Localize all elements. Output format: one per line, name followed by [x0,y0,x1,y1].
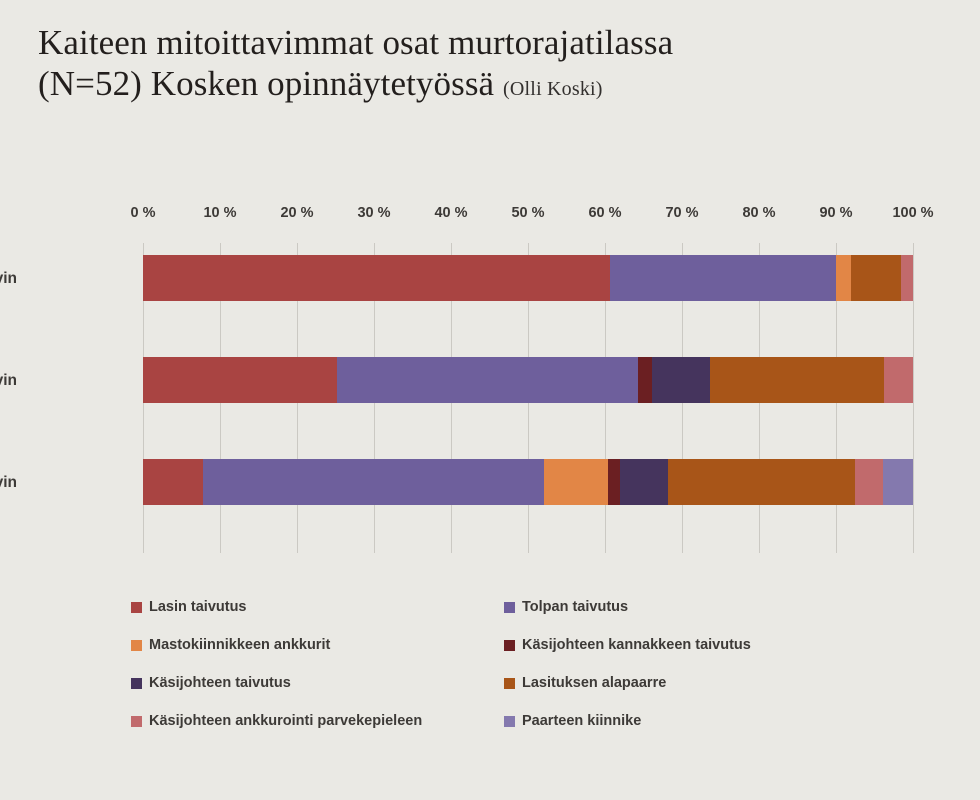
bar-segment[interactable] [203,459,544,505]
y-axis-category-label: Mitoittavin [0,270,17,288]
bar-row [143,255,913,301]
bar-segment[interactable] [143,459,203,505]
chart-legend: Lasin taivutusTolpan taivutusMastokiinni… [131,600,831,752]
legend-swatch-icon [504,640,515,651]
x-axis: 0 %10 %20 %30 %40 %50 %60 %70 %80 %90 %1… [0,205,980,229]
bar-segment[interactable] [610,255,836,301]
legend-item-label: Käsijohteen taivutus [149,676,291,691]
legend-row: Käsijohteen taivutusLasituksen alapaarre [131,676,831,714]
legend-row: Käsijohteen ankkurointi parvekepieleenPa… [131,714,831,752]
legend-row: Lasin taivutusTolpan taivutus [131,600,831,638]
bar-segment[interactable] [337,357,638,403]
legend-swatch-icon [131,678,142,689]
legend-swatch-icon [504,716,515,727]
y-axis-category-label: 2. mitoittavin [0,372,17,390]
bar-segment[interactable] [652,357,710,403]
x-axis-tick-label: 30 % [357,205,390,221]
legend-item-label: Paarteen kiinnike [522,714,641,729]
bar-segment[interactable] [836,255,851,301]
bar-segment[interactable] [883,459,913,505]
bar-segment[interactable] [544,459,608,505]
legend-swatch-icon [131,602,142,613]
bar-row [143,357,913,403]
plot-area [143,243,913,553]
legend-item[interactable]: Lasituksen alapaarre [504,676,666,691]
legend-item-label: Mastokiinnikkeen ankkurit [149,638,330,653]
x-axis-tick-label: 0 % [131,205,156,221]
chart-container: 0 %10 %20 %30 %40 %50 %60 %70 %80 %90 %1… [0,185,980,585]
legend-item-label: Käsijohteen ankkurointi parvekepieleen [149,714,422,729]
x-axis-tick-label: 10 % [203,205,236,221]
legend-item-label: Käsijohteen kannakkeen taivutus [522,638,751,653]
title-author: (Olli Koski) [503,78,603,100]
x-axis-tick-label: 100 % [892,205,933,221]
legend-item[interactable]: Tolpan taivutus [504,600,628,615]
legend-item[interactable]: Käsijohteen taivutus [131,676,504,691]
title-line-2: (N=52) Kosken opinnäytetyössä (Olli Kosk… [38,63,938,110]
bar-segment[interactable] [143,255,610,301]
page-title: Kaiteen mitoittavimmat osat murtorajatil… [38,22,938,110]
gridline [913,243,914,553]
x-axis-tick-label: 50 % [511,205,544,221]
legend-row: Mastokiinnikkeen ankkuritKäsijohteen kan… [131,638,831,676]
x-axis-tick-label: 60 % [588,205,621,221]
bar-segment[interactable] [710,357,885,403]
legend-swatch-icon [131,640,142,651]
legend-item[interactable]: Mastokiinnikkeen ankkurit [131,638,504,653]
legend-item[interactable]: Käsijohteen kannakkeen taivutus [504,638,751,653]
bar-row [143,459,913,505]
x-axis-tick-label: 90 % [819,205,852,221]
bar-segment[interactable] [608,459,620,505]
x-axis-tick-label: 70 % [665,205,698,221]
title-line-1: Kaiteen mitoittavimmat osat murtorajatil… [38,22,938,63]
legend-item-label: Tolpan taivutus [522,600,628,615]
legend-item-label: Lasituksen alapaarre [522,676,666,691]
bar-segment[interactable] [638,357,652,403]
bar-segment[interactable] [143,357,337,403]
legend-item-label: Lasin taivutus [149,600,247,615]
title-line-2-text: (N=52) Kosken opinnäytetyössä [38,64,494,103]
x-axis-tick-label: 40 % [434,205,467,221]
legend-swatch-icon [504,678,515,689]
bar-segment[interactable] [851,255,901,301]
bar-segment[interactable] [884,357,912,403]
bar-segment[interactable] [855,459,883,505]
bar-segment[interactable] [901,255,913,301]
y-axis-category-label: 3. mitoittavin [0,474,17,492]
legend-item[interactable]: Lasin taivutus [131,600,504,615]
legend-swatch-icon [504,602,515,613]
x-axis-tick-label: 80 % [742,205,775,221]
legend-swatch-icon [131,716,142,727]
bar-segment[interactable] [668,459,855,505]
legend-item[interactable]: Käsijohteen ankkurointi parvekepieleen [131,714,504,729]
legend-item[interactable]: Paarteen kiinnike [504,714,641,729]
x-axis-tick-label: 20 % [280,205,313,221]
bar-segment[interactable] [620,459,668,505]
